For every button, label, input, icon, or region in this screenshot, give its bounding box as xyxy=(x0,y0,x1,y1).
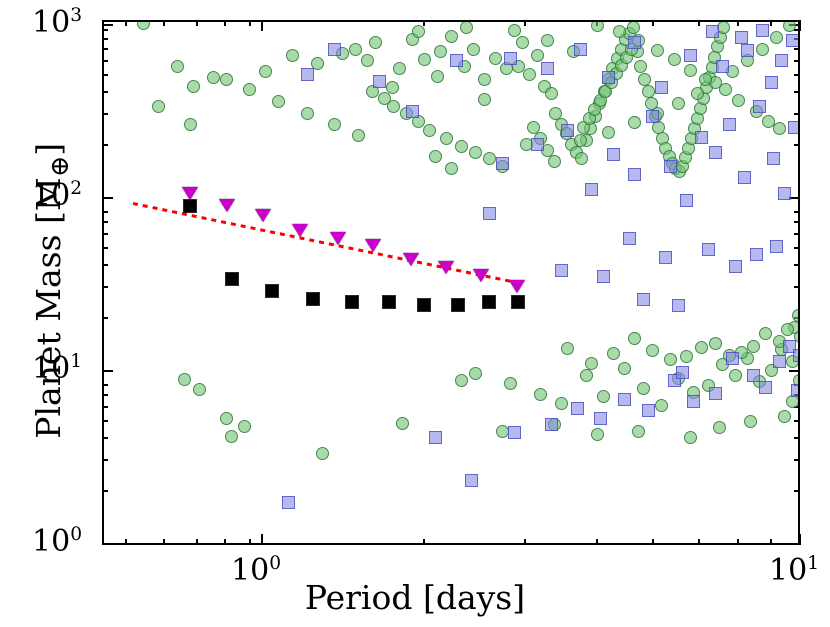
marker-circle xyxy=(585,357,598,370)
marker-blue-square xyxy=(680,194,693,207)
x-major-tick xyxy=(261,20,263,31)
marker-circle xyxy=(637,382,650,395)
y-minor-tick xyxy=(794,144,800,146)
marker-circle xyxy=(729,369,742,382)
marker-triangle xyxy=(182,187,198,200)
y-minor-tick xyxy=(102,60,108,62)
y-minor-tick xyxy=(794,459,800,461)
marker-blue-square xyxy=(709,146,722,159)
marker-circle xyxy=(642,85,655,98)
marker-blue-square xyxy=(709,387,722,400)
marker-blue-square xyxy=(788,121,798,134)
marker-circle xyxy=(781,323,794,336)
marker-circle xyxy=(672,97,685,110)
x-minor-tick xyxy=(737,20,739,26)
marker-blue-square xyxy=(646,110,659,123)
marker-circle xyxy=(207,71,220,84)
marker-blue-square xyxy=(702,243,715,256)
y-minor-tick xyxy=(794,74,800,76)
marker-circle xyxy=(680,350,693,363)
marker-blue-square xyxy=(504,52,517,65)
marker-black-square xyxy=(451,298,465,312)
x-minor-tick xyxy=(524,539,526,545)
marker-triangle xyxy=(473,269,489,282)
marker-blue-square xyxy=(623,232,636,245)
x-minor-tick xyxy=(163,539,165,545)
y-minor-tick xyxy=(102,144,108,146)
marker-black-square xyxy=(306,292,320,306)
marker-circle xyxy=(580,369,593,382)
marker-blue-square xyxy=(561,124,574,137)
y-major-tick xyxy=(789,370,800,372)
y-minor-tick xyxy=(794,286,800,288)
y-major-tick xyxy=(102,24,113,26)
marker-triangle xyxy=(438,261,454,274)
marker-blue-square xyxy=(328,43,341,56)
marker-circle xyxy=(574,134,587,147)
marker-blue-square xyxy=(555,264,568,277)
marker-circle xyxy=(602,126,615,139)
marker-blue-square xyxy=(716,60,729,73)
x-minor-tick xyxy=(737,539,739,545)
marker-circle xyxy=(445,30,458,43)
x-major-tick xyxy=(261,534,263,545)
marker-circle xyxy=(478,93,491,106)
marker-circle xyxy=(184,118,197,131)
marker-circle xyxy=(396,417,409,430)
marker-blue-square xyxy=(450,54,463,67)
y-minor-tick xyxy=(102,394,108,396)
y-minor-tick xyxy=(102,48,108,50)
plot-axes-frame xyxy=(102,20,800,545)
y-minor-tick xyxy=(794,420,800,422)
marker-circle xyxy=(361,54,374,67)
x-minor-tick xyxy=(770,539,772,545)
marker-blue-square xyxy=(695,131,708,144)
x-minor-tick xyxy=(125,20,127,26)
y-axis-title-prefix: Planet Mass [M xyxy=(29,177,68,438)
marker-blue-square xyxy=(664,160,677,173)
marker-blue-square xyxy=(602,71,615,84)
y-minor-tick xyxy=(794,48,800,50)
plot-data-area xyxy=(104,22,798,543)
marker-triangle xyxy=(219,199,235,212)
marker-blue-square xyxy=(531,138,544,151)
x-minor-tick xyxy=(524,20,526,26)
x-minor-tick xyxy=(224,20,226,26)
marker-blue-square xyxy=(723,118,736,131)
marker-circle xyxy=(455,374,468,387)
marker-circle xyxy=(638,73,651,86)
marker-blue-square xyxy=(597,270,610,283)
marker-circle xyxy=(555,397,568,410)
marker-circle xyxy=(732,94,745,107)
x-minor-tick xyxy=(652,20,654,26)
x-minor-tick xyxy=(698,20,700,26)
marker-circle xyxy=(478,73,491,86)
marker-circle xyxy=(747,340,760,353)
marker-circle xyxy=(220,73,233,86)
marker-circle xyxy=(152,100,165,113)
marker-blue-square xyxy=(545,418,558,431)
marker-circle xyxy=(378,92,391,105)
x-minor-tick xyxy=(596,539,598,545)
marker-black-square xyxy=(511,295,525,309)
marker-circle xyxy=(545,87,558,100)
marker-triangle xyxy=(330,232,346,245)
marker-circle xyxy=(516,36,529,49)
x-axis-title: Period [days] xyxy=(0,578,830,617)
marker-blue-square xyxy=(793,349,798,362)
marker-circle xyxy=(575,152,588,165)
marker-circle xyxy=(455,140,468,153)
marker-circle xyxy=(418,53,431,66)
marker-blue-square xyxy=(759,381,772,394)
marker-blue-square xyxy=(738,171,751,184)
marker-circle xyxy=(684,431,697,444)
marker-circle xyxy=(668,53,681,66)
y-minor-tick xyxy=(794,247,800,249)
marker-blue-square xyxy=(429,431,442,444)
marker-blue-square xyxy=(687,395,700,408)
y-minor-tick xyxy=(102,221,108,223)
marker-blue-square xyxy=(791,384,798,397)
marker-blue-square xyxy=(726,352,739,365)
marker-blue-square xyxy=(756,24,769,37)
marker-circle xyxy=(541,34,554,47)
marker-circle xyxy=(778,410,791,423)
marker-circle xyxy=(591,22,604,32)
marker-triangle xyxy=(509,280,525,293)
marker-black-square xyxy=(417,298,431,312)
marker-circle xyxy=(328,118,341,131)
marker-circle xyxy=(655,399,668,412)
x-minor-tick xyxy=(196,20,198,26)
marker-blue-square xyxy=(465,474,478,487)
marker-circle xyxy=(440,132,453,145)
x-minor-tick xyxy=(249,20,251,26)
marker-circle xyxy=(618,362,631,375)
marker-circle xyxy=(460,22,473,34)
marker-blue-square xyxy=(571,402,584,415)
marker-circle xyxy=(651,44,664,57)
marker-circle xyxy=(301,107,314,120)
y-major-tick xyxy=(789,543,800,545)
marker-circle xyxy=(496,425,509,438)
marker-blue-square xyxy=(729,260,742,273)
marker-circle xyxy=(352,129,365,142)
marker-circle xyxy=(504,377,517,390)
marker-circle xyxy=(508,24,521,37)
marker-blue-square xyxy=(770,240,783,253)
marker-blue-square xyxy=(618,393,631,406)
marker-circle xyxy=(684,64,697,77)
marker-circle xyxy=(238,420,251,433)
marker-circle xyxy=(607,347,620,360)
marker-circle xyxy=(773,122,786,135)
marker-triangle xyxy=(365,239,381,252)
y-minor-tick xyxy=(794,437,800,439)
marker-blue-square xyxy=(496,157,509,170)
marker-circle xyxy=(628,116,641,129)
marker-circle xyxy=(423,124,436,137)
marker-circle xyxy=(178,373,191,386)
marker-circle xyxy=(548,155,561,168)
y-major-tick xyxy=(102,197,113,199)
y-minor-tick xyxy=(102,264,108,266)
marker-circle xyxy=(187,80,200,93)
marker-blue-square xyxy=(775,54,788,67)
marker-circle xyxy=(429,150,442,163)
marker-circle xyxy=(759,327,772,340)
y-minor-tick xyxy=(102,74,108,76)
marker-circle xyxy=(613,25,626,38)
y-minor-tick xyxy=(102,38,108,40)
x-minor-tick xyxy=(770,20,772,26)
y-minor-tick xyxy=(102,420,108,422)
y-minor-tick xyxy=(102,406,108,408)
y-minor-tick xyxy=(102,113,108,115)
marker-circle xyxy=(431,70,444,83)
marker-circle xyxy=(756,43,769,56)
marker-blue-square xyxy=(753,100,766,113)
marker-blue-square xyxy=(765,76,778,89)
x-minor-tick xyxy=(698,539,700,545)
marker-blue-square xyxy=(373,75,386,88)
y-minor-tick xyxy=(794,221,800,223)
marker-black-square xyxy=(382,295,396,309)
y-minor-tick xyxy=(102,29,108,31)
marker-black-square xyxy=(265,284,279,298)
y-minor-tick xyxy=(794,60,800,62)
marker-circle xyxy=(469,146,482,159)
marker-blue-square xyxy=(659,251,672,264)
marker-circle xyxy=(286,49,299,62)
marker-circle xyxy=(137,22,150,30)
marker-blue-square xyxy=(628,168,641,181)
marker-circle xyxy=(597,390,610,403)
marker-circle xyxy=(349,43,362,56)
marker-blue-square xyxy=(767,152,780,165)
marker-circle xyxy=(634,60,647,73)
marker-black-square xyxy=(345,295,359,309)
marker-circle xyxy=(627,22,640,34)
marker-triangle xyxy=(403,253,419,266)
marker-circle xyxy=(272,95,285,108)
marker-blue-square xyxy=(574,43,587,56)
x-minor-tick xyxy=(125,539,127,545)
y-minor-tick xyxy=(794,29,800,31)
marker-circle xyxy=(770,31,783,44)
marker-blue-square xyxy=(406,105,419,118)
y-minor-tick xyxy=(794,211,800,213)
marker-blue-square xyxy=(684,49,697,62)
marker-circle xyxy=(695,341,708,354)
marker-blue-square xyxy=(541,62,554,75)
marker-black-square xyxy=(183,199,197,213)
marker-circle xyxy=(699,73,712,86)
marker-circle xyxy=(445,162,458,175)
marker-blue-square xyxy=(773,355,786,368)
y-minor-tick xyxy=(102,233,108,235)
marker-blue-square xyxy=(672,299,685,312)
y-minor-tick xyxy=(102,317,108,319)
marker-circle xyxy=(713,421,726,434)
x-minor-tick xyxy=(249,539,251,545)
marker-blue-square xyxy=(676,366,689,379)
marker-circle xyxy=(316,447,329,460)
marker-blue-square xyxy=(628,36,641,49)
fit-line-dotted xyxy=(132,202,522,285)
figure-canvas: 100101100101102103 Period [days] Planet … xyxy=(0,0,830,627)
x-minor-tick xyxy=(423,539,425,545)
marker-blue-square xyxy=(483,207,496,220)
x-minor-tick xyxy=(224,539,226,545)
marker-circle xyxy=(259,65,272,78)
y-minor-tick xyxy=(794,91,800,93)
y-minor-tick xyxy=(794,490,800,492)
marker-blue-square xyxy=(508,426,521,439)
marker-blue-square xyxy=(282,496,295,509)
marker-blue-square xyxy=(655,81,668,94)
marker-triangle xyxy=(292,224,308,237)
marker-circle xyxy=(393,62,406,75)
marker-blue-square xyxy=(706,25,719,38)
marker-blue-square xyxy=(750,248,763,261)
y-axis-title: Planet Mass [M⊕] xyxy=(29,11,75,571)
marker-circle xyxy=(523,68,536,81)
marker-circle xyxy=(719,83,732,96)
y-minor-tick xyxy=(794,233,800,235)
marker-circle xyxy=(220,412,233,425)
y-minor-tick xyxy=(102,91,108,93)
marker-circle xyxy=(225,430,238,443)
x-minor-tick xyxy=(163,20,165,26)
marker-blue-square xyxy=(585,183,598,196)
y-minor-tick xyxy=(102,459,108,461)
y-minor-tick xyxy=(794,113,800,115)
marker-circle xyxy=(434,45,447,58)
x-minor-tick xyxy=(196,539,198,545)
y-major-tick xyxy=(102,370,113,372)
marker-circle xyxy=(628,332,641,345)
earth-symbol-icon: ⊕ xyxy=(45,156,75,178)
marker-blue-square xyxy=(741,44,754,57)
marker-black-square xyxy=(225,272,239,286)
y-minor-tick xyxy=(102,286,108,288)
marker-circle xyxy=(467,43,480,56)
x-minor-tick xyxy=(423,20,425,26)
marker-blue-square xyxy=(778,187,791,200)
marker-circle xyxy=(591,428,604,441)
marker-circle xyxy=(412,25,425,38)
marker-circle xyxy=(369,36,382,49)
y-minor-tick xyxy=(102,437,108,439)
marker-circle xyxy=(646,344,659,357)
marker-blue-square xyxy=(594,412,607,425)
marker-circle xyxy=(243,83,256,96)
y-minor-tick xyxy=(102,490,108,492)
marker-circle xyxy=(744,415,757,428)
marker-blue-square xyxy=(786,34,798,47)
marker-triangle xyxy=(255,209,271,222)
marker-circle xyxy=(171,60,184,73)
y-minor-tick xyxy=(102,247,108,249)
marker-blue-square xyxy=(735,31,748,44)
marker-circle xyxy=(534,388,547,401)
marker-circle xyxy=(469,367,482,380)
marker-blue-square xyxy=(642,404,655,417)
marker-circle xyxy=(561,342,574,355)
marker-circle xyxy=(632,425,645,438)
marker-circle xyxy=(489,52,502,65)
marker-circle xyxy=(531,49,544,62)
y-major-tick xyxy=(102,543,113,545)
y-minor-tick xyxy=(102,384,108,386)
marker-circle xyxy=(664,353,677,366)
marker-blue-square xyxy=(607,148,620,161)
y-axis-title-suffix: ] xyxy=(29,143,68,156)
marker-circle xyxy=(193,383,206,396)
marker-blue-square xyxy=(637,293,650,306)
y-minor-tick xyxy=(102,211,108,213)
marker-circle xyxy=(709,337,722,350)
y-minor-tick xyxy=(794,264,800,266)
marker-circle xyxy=(483,152,496,165)
x-minor-tick xyxy=(652,539,654,545)
marker-blue-square xyxy=(301,68,314,81)
marker-black-square xyxy=(482,295,496,309)
